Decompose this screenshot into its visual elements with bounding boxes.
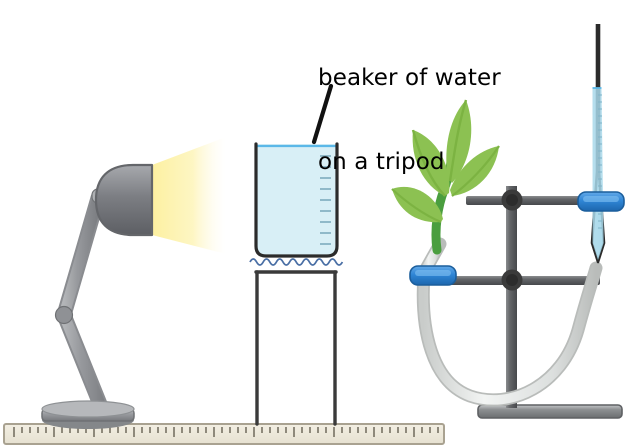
diagram-canvas: beaker of water on a tripod bbox=[0, 0, 640, 446]
desk-lamp bbox=[42, 137, 226, 429]
lamp-shade bbox=[96, 165, 152, 235]
clamp-lower[interactable] bbox=[410, 266, 456, 285]
beaker-label: beaker of water on a tripod bbox=[318, 8, 578, 232]
clamp-upper[interactable] bbox=[578, 192, 624, 211]
stand-arm-lower bbox=[448, 276, 600, 285]
capillary-tube bbox=[592, 24, 604, 262]
beaker-label-line1: beaker of water bbox=[318, 64, 578, 92]
boss-knob-lower[interactable] bbox=[502, 270, 523, 291]
light-beam bbox=[152, 137, 226, 254]
gauze bbox=[250, 259, 342, 265]
beaker-label-line2: on a tripod bbox=[318, 148, 578, 176]
tripod bbox=[256, 272, 336, 424]
